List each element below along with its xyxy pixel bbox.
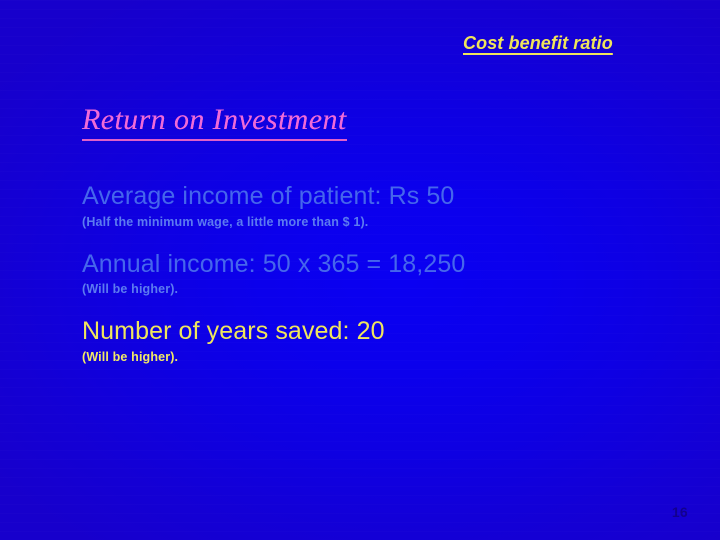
slide-title: Return on Investment [82,104,347,141]
content-block-1: Average income of patient: Rs 50 (Half t… [82,182,642,230]
content-sub-3: (Will be higher). [82,350,642,365]
slide-header-title: Cost benefit ratio [463,33,613,54]
content-lead-1: Average income of patient: Rs 50 [82,182,642,211]
slide-body: Average income of patient: Rs 50 (Half t… [82,182,642,365]
slide-page-number: 16 [672,504,688,520]
content-block-2: Annual income: 50 x 365 = 18,250 (Will b… [82,250,642,298]
content-sub-1: (Half the minimum wage, a little more th… [82,215,642,230]
content-sub-2: (Will be higher). [82,282,642,297]
presentation-slide: Cost benefit ratio Return on Investment … [0,0,720,540]
content-lead-3: Number of years saved: 20 [82,317,642,346]
content-lead-2: Annual income: 50 x 365 = 18,250 [82,250,642,279]
content-block-3: Number of years saved: 20 (Will be highe… [82,317,642,365]
